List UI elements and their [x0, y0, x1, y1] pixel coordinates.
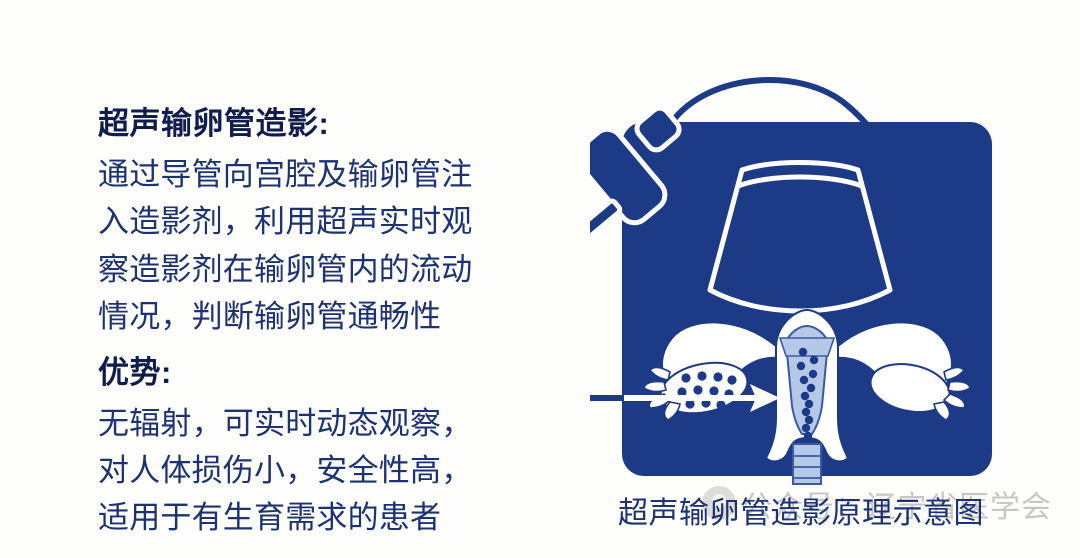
- caption-wrap: 超声输卵管造影原理示意图: [590, 486, 1020, 542]
- section-advantages: 优势: 无辐射，可实时动态观察， 对人体损伤小，安全性高， 适用于有生育需求的患…: [98, 353, 518, 542]
- text-column: 超声输卵管造影: 通过导管向宫腔及输卵管注 入造影剂，利用超声实时观 察造影剂在…: [98, 104, 518, 542]
- section-advantages-body: 无辐射，可实时动态观察， 对人体损伤小，安全性高， 适用于有生育需求的患者: [98, 400, 518, 542]
- section-definition-heading: 超声输卵管造影:: [98, 104, 518, 145]
- body-line: 察造影剂在输卵管内的流动: [98, 246, 518, 293]
- body-line: 无辐射，可实时动态观察，: [98, 400, 518, 447]
- slide-root: 超声输卵管造影: 通过导管向宫腔及输卵管注 入造影剂，利用超声实时观 察造影剂在…: [0, 0, 1080, 558]
- illustration-panel: [590, 66, 1010, 486]
- illustration-caption: 超声输卵管造影原理示意图: [618, 488, 984, 532]
- body-line: 适用于有生育需求的患者: [98, 494, 518, 541]
- section-definition-body: 通过导管向宫腔及输卵管注 入造影剂，利用超声实时观 察造影剂在输卵管内的流动 情…: [98, 151, 518, 341]
- body-line: 入造影剂，利用超声实时观: [98, 198, 518, 245]
- section-advantages-heading: 优势:: [98, 353, 518, 394]
- section-definition: 超声输卵管造影: 通过导管向宫腔及输卵管注 入造影剂，利用超声实时观 察造影剂在…: [98, 104, 518, 341]
- cavity-fundus: [780, 338, 834, 356]
- body-line: 通过导管向宫腔及输卵管注: [98, 151, 518, 198]
- body-line: 情况，判断输卵管通畅性: [98, 293, 518, 340]
- body-line: 对人体损伤小，安全性高，: [98, 447, 518, 494]
